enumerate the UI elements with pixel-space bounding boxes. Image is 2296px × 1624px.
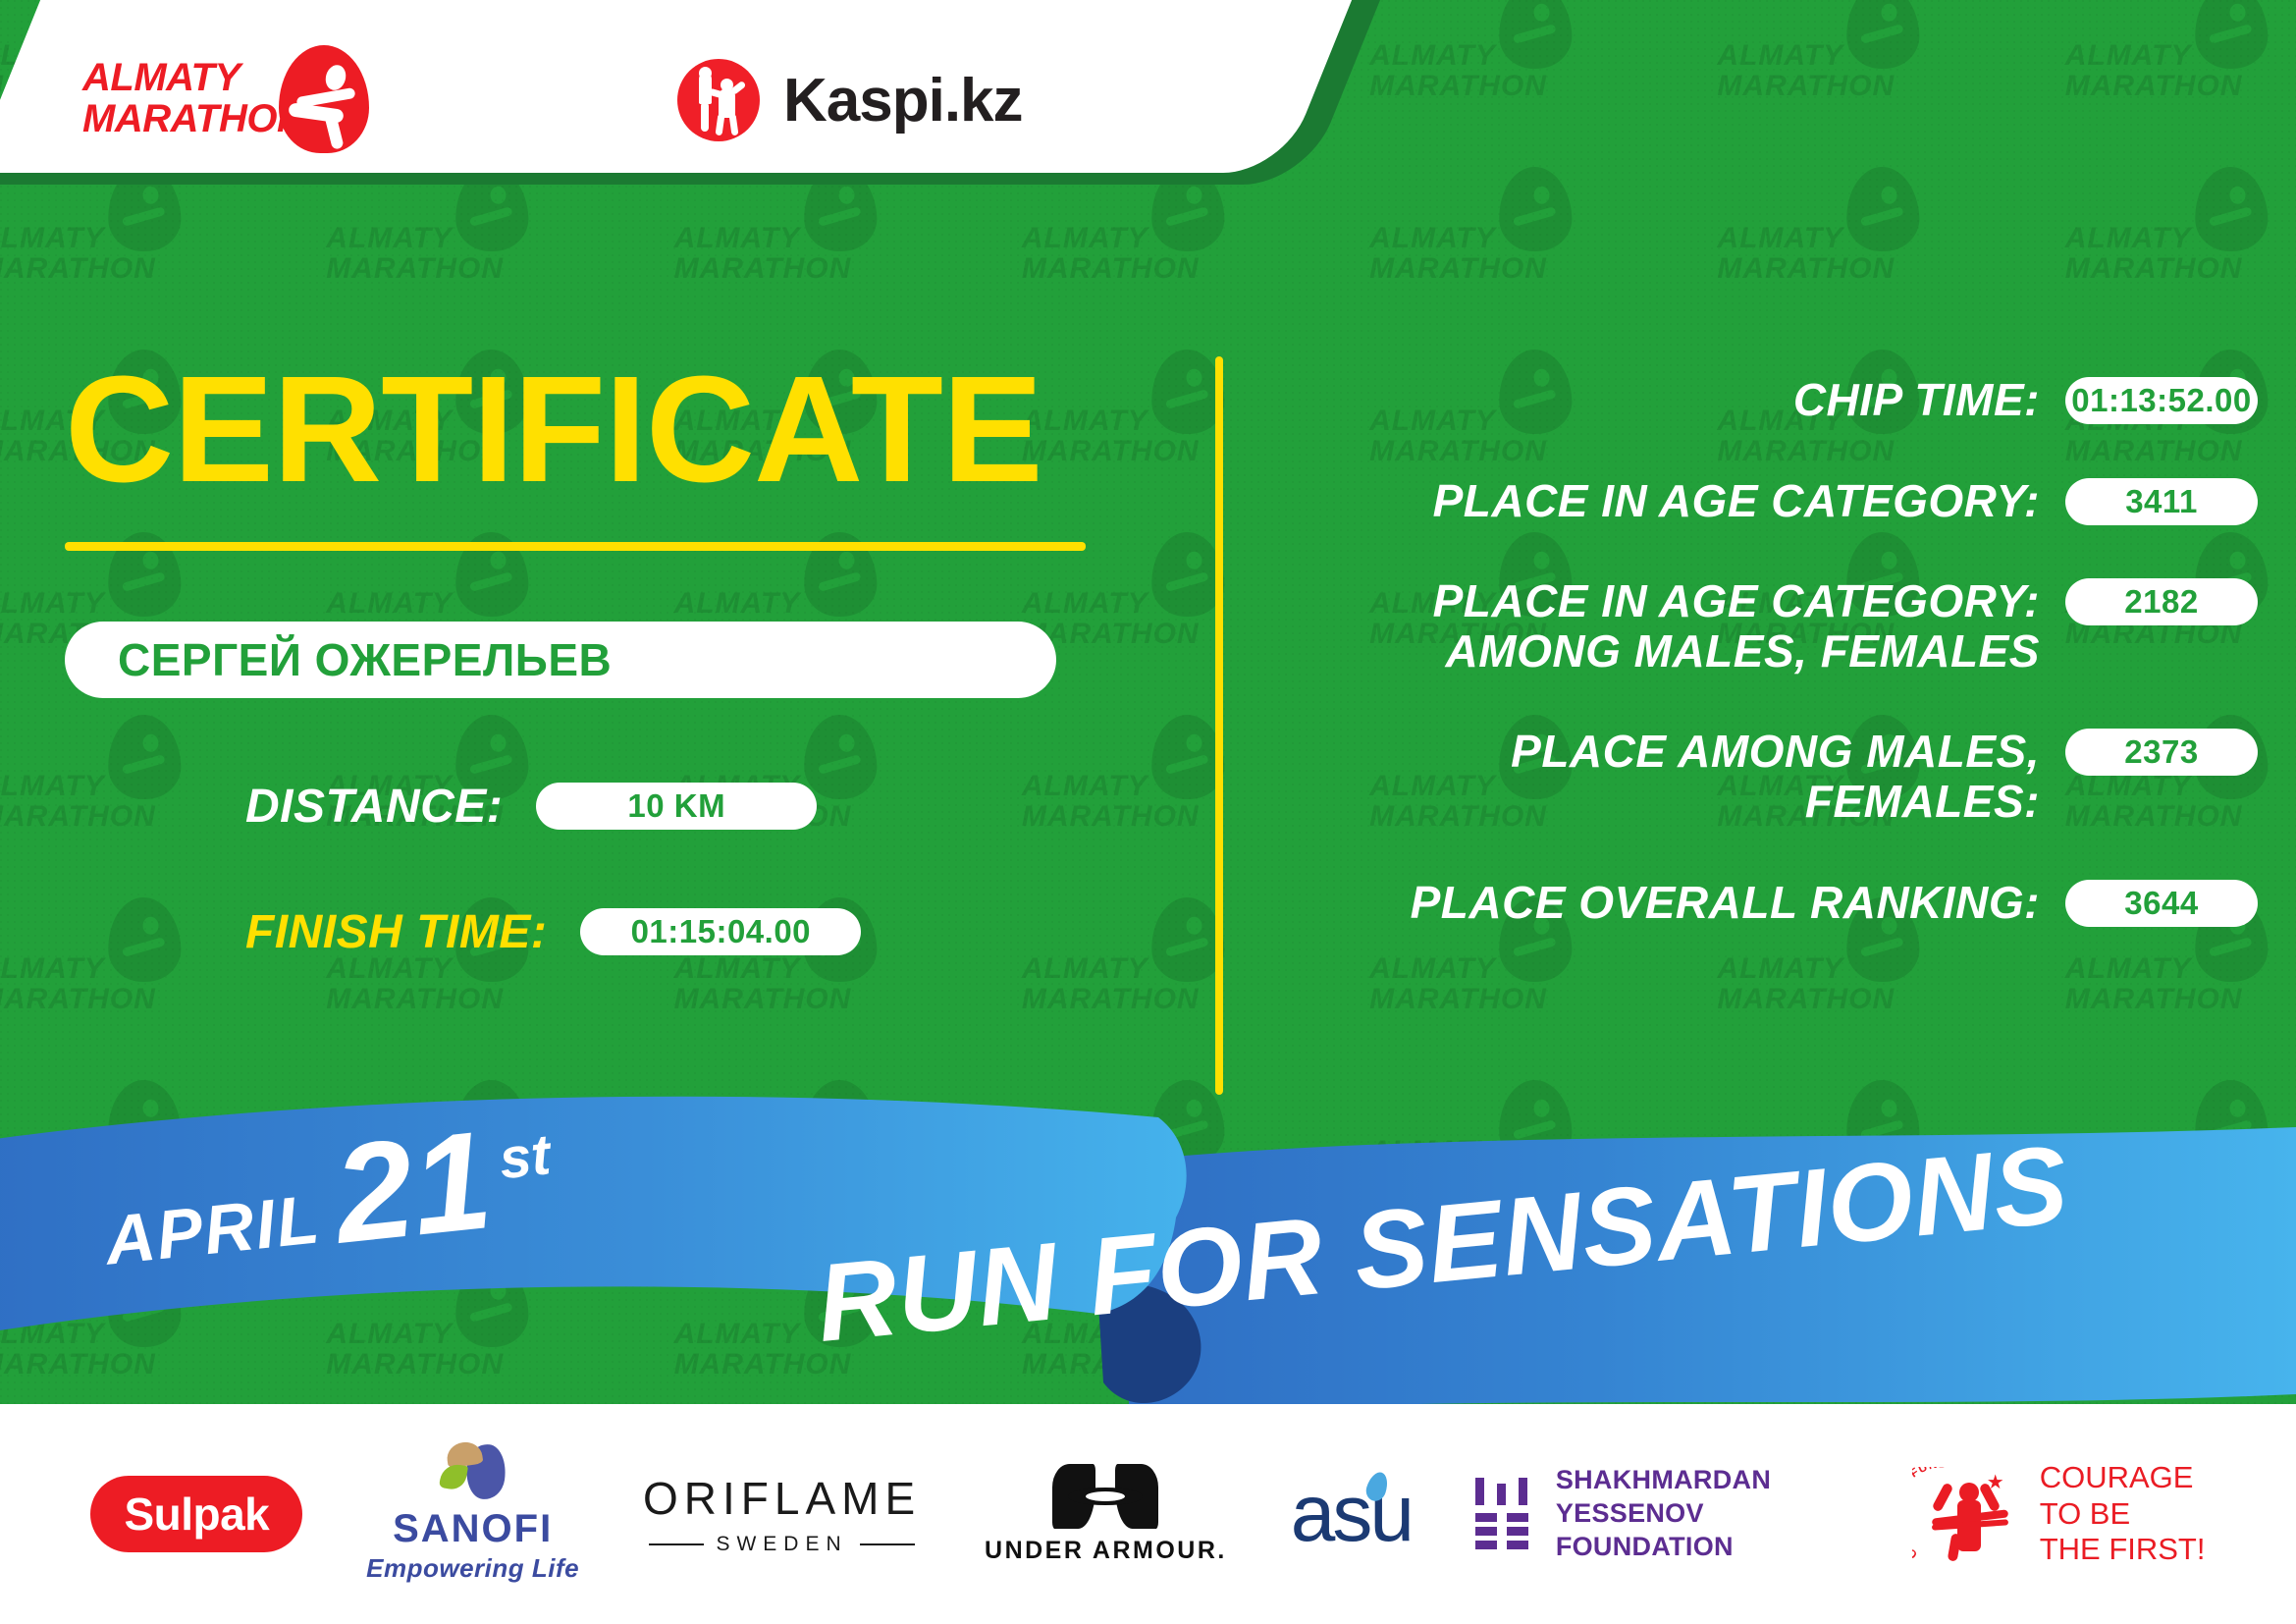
yessenov-bar-3 [1519,1478,1527,1505]
courage-line-3: THE FIRST! [2040,1532,2206,1568]
watermark-drop-icon [1498,166,1574,253]
watermark-line2: MARATHON [1717,254,2047,285]
place-overall-label: PLACE OVERALL RANKING: [1276,878,2040,928]
sponsor-yessenov-foundation: SHAKHMARDAN YESSENOV FOUNDATION [1475,1464,1850,1563]
almaty-marathon-line2: MARATHON [82,98,304,139]
title-divider-rule [65,542,1086,551]
kaspi-adult-leg [701,102,709,132]
place-among-gender-value: 2373 [2065,729,2258,776]
place-age-category-gender-label: PLACE IN AGE CATEGORY: AMONG MALES, FEMA… [1276,576,2040,676]
sponsor-sulpak: Sulpak [90,1476,302,1552]
sponsor-bar: Sulpak SANOFI Empowering Life ORIFLAME S… [0,1404,2296,1624]
participant-name-value: СЕРГЕЙ ОЖЕРЕЛЬЕВ [118,633,612,686]
oriflame-rule-left [649,1543,704,1545]
yessenov-bar-6 [1475,1527,1497,1536]
sponsor-under-armour: UNDER ARMOUR. [985,1464,1227,1565]
sponsor-courage-to-be-the-first: CORPORATE FUND ★ COURAGE TO BE THE FIRST… [1914,1460,2206,1568]
watermark-drop-icon [2193,166,2269,253]
watermark-drop-icon [2193,0,2269,70]
distance-value: 10 KM [536,783,817,830]
oriflame-subline: SWEDEN [649,1533,914,1556]
finish-time-value: 01:15:04.00 [580,908,861,955]
yessenov-bar-2 [1497,1484,1506,1505]
sanofi-shape-tan [445,1440,483,1469]
kaspi-wordmark: Kaspi.kz [783,66,1023,135]
yessenov-wordmark: SHAKHMARDAN YESSENOV FOUNDATION [1556,1464,1850,1563]
under-armour-wordmark: UNDER ARMOUR. [985,1537,1227,1565]
asu-wordmark: asu [1291,1468,1412,1560]
place-age-category-value: 3411 [2065,478,2258,525]
watermark-tile: ALMATYMARATHON [1699,163,2047,346]
watermark-line2: MARATHON [326,254,656,285]
sponsor-asu: asu [1291,1468,1412,1560]
result-row-place-overall: PLACE OVERALL RANKING: 3644 [1276,878,2258,928]
detail-row-finish-time: FINISH TIME: 01:15:04.00 [245,894,1158,969]
runner-drop-icon [279,45,369,153]
watermark-line2: MARATHON [1717,985,2047,1015]
watermark-tile: ALMATYMARATHON [2048,163,2296,346]
watermark-line2: MARATHON [2065,985,2296,1015]
yessenov-bar-5 [1507,1513,1528,1522]
yessenov-bar-1 [1475,1478,1484,1505]
oriflame-country: SWEDEN [716,1533,847,1556]
sponsor-oriflame: ORIFLAME SWEDEN [643,1472,921,1556]
page-title: CERTIFICATE [59,353,1158,505]
yessenov-bar-8 [1475,1541,1497,1549]
courage-line-2: TO BE [2040,1496,2206,1533]
kaspi-logo: Kaspi.kz [677,59,1023,141]
certificate-left-column: CERTIFICATE СЕРГЕЙ ОЖЕРЕЛЬЕВ DISTANCE: 1… [59,353,1158,969]
place-among-gender-label: PLACE AMONG MALES, FEMALES: [1276,727,2040,826]
yessenov-bar-7 [1507,1527,1528,1536]
chip-time-label: CHIP TIME: [1276,375,2040,425]
result-row-place-age-category-gender: PLACE IN AGE CATEGORY: AMONG MALES, FEMA… [1276,576,2258,676]
kaspi-child-leg-right [729,114,739,136]
watermark-line2: MARATHON [1369,254,1699,285]
yessenov-bar-9 [1507,1541,1528,1549]
watermark-line2: MARATHON [1022,985,1352,1015]
watermark-line2: MARATHON [674,254,1004,285]
place-overall-value: 3644 [2065,880,2258,927]
certificate-detail-rows: DISTANCE: 10 KM FINISH TIME: 01:15:04.00 [245,769,1158,969]
ribbon-day-suffix: st [496,1121,553,1192]
watermark-line2: MARATHON [2065,254,2296,285]
detail-row-distance: DISTANCE: 10 KM [245,769,1158,843]
participant-name-field: СЕРГЕЙ ОЖЕРЕЛЬЕВ [65,622,1056,698]
courage-line-1: COURAGE [2040,1460,2206,1496]
results-column: CHIP TIME: 01:13:52.00 PLACE IN AGE CATE… [1276,375,2258,978]
oriflame-wordmark: ORIFLAME [643,1472,921,1525]
yessenov-bars-icon [1475,1478,1534,1550]
result-row-chip-time: CHIP TIME: 01:13:52.00 [1276,375,2258,425]
sanofi-tagline: Empowering Life [366,1553,579,1584]
distance-label: DISTANCE: [245,780,503,834]
finish-time-label: FINISH TIME: [245,905,547,959]
place-age-category-gender-value: 2182 [2065,578,2258,625]
certificate-page: ALMATYMARATHONALMATYMARATHONALMATYMARATH… [0,0,2296,1624]
under-armour-bar-hole [1086,1491,1125,1501]
courage-wordmark: COURAGE TO BE THE FIRST! [2040,1460,2206,1568]
result-row-place-age-category: PLACE IN AGE CATEGORY: 3411 [1276,476,2258,526]
almaty-marathon-line1: ALMATY [82,57,304,98]
watermark-line2: MARATHON [2065,72,2296,102]
watermark-drop-icon [1149,531,1225,619]
watermark-line2: MARATHON [1022,254,1352,285]
yessenov-bar-4 [1475,1513,1497,1522]
under-armour-icon [1052,1464,1158,1529]
watermark-line2: MARATHON [1369,985,1699,1015]
column-divider [1215,356,1223,1095]
sulpak-logo: Sulpak [90,1476,302,1552]
result-row-place-among-gender: PLACE AMONG MALES, FEMALES: 2373 [1276,727,2258,826]
watermark-drop-icon [1149,714,1225,801]
watermark-drop-icon [1149,896,1225,984]
kaspi-family-circle-icon [677,59,760,141]
sanofi-shape-green [439,1462,468,1491]
watermark-drop-icon [1845,166,1921,253]
place-age-category-label: PLACE IN AGE CATEGORY: [1276,476,2040,526]
almaty-marathon-wordmark: ALMATY MARATHON [82,57,304,139]
chip-time-value: 01:13:52.00 [2065,377,2258,424]
watermark-tile: ALMATYMARATHON [2048,0,2296,163]
sanofi-bird-icon [441,1444,506,1503]
courage-runner-icon: CORPORATE FUND ★ [1914,1461,2024,1567]
courage-head [1959,1483,1979,1502]
watermark-drop-icon [1149,349,1225,436]
sponsor-sanofi: SANOFI Empowering Life [366,1444,579,1584]
watermark-line2: MARATHON [674,985,1004,1015]
watermark-tile: ALMATYMARATHON [1699,0,2047,163]
oriflame-rule-right [860,1543,915,1545]
watermark-line2: MARATHON [326,985,656,1015]
kaspi-child-leg-left [716,114,725,136]
watermark-line2: MARATHON [0,985,308,1015]
watermark-line2: MARATHON [0,254,308,285]
watermark-line2: MARATHON [1717,72,2047,102]
sanofi-wordmark: SANOFI [393,1507,553,1551]
almaty-marathon-logo: ALMATY MARATHON [82,45,406,153]
svg-text:CORPORATE FUND: CORPORATE FUND [1912,1467,1948,1561]
ribbon-day: 21 [330,1120,497,1256]
